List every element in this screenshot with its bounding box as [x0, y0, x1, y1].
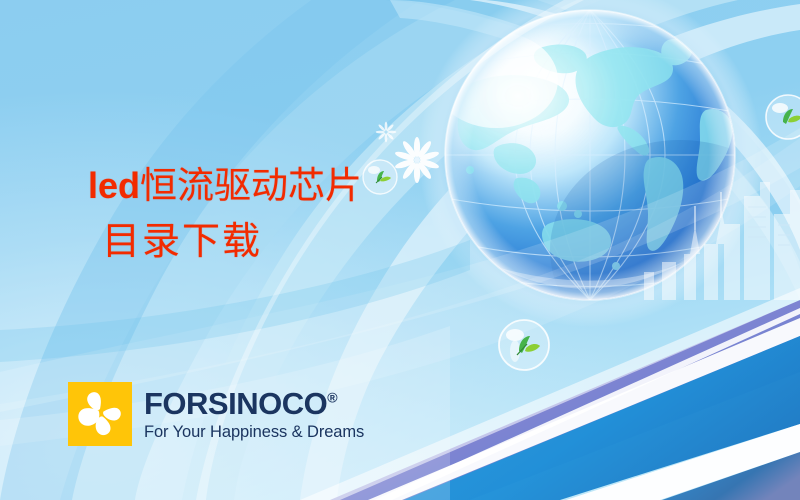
eco-bubble-medium — [499, 320, 549, 370]
headline-line-1-latin: led — [88, 165, 140, 206]
logo-wordmark: FORSINOCO® — [144, 388, 364, 419]
headline-line-2: 目录下载 — [102, 223, 362, 261]
forsinoco-pinwheel-mark-icon — [68, 382, 132, 446]
headline-line-1: led恒流驱动芯片 — [88, 168, 362, 205]
promo-headline: led恒流驱动芯片 目录下载 — [88, 168, 362, 261]
forsinoco-logo: FORSINOCO® For Your Happiness & Dreams — [68, 382, 364, 446]
registered-trademark-icon: ® — [327, 390, 337, 406]
promo-banner: led恒流驱动芯片 目录下载 FORSINOCO® For Your Happi… — [0, 0, 800, 500]
logo-text-block: FORSINOCO® For Your Happiness & Dreams — [144, 382, 364, 441]
headline-line-1-cjk: 恒流驱动芯片 — [140, 166, 362, 207]
logo-wordmark-text: FORSINOCO — [144, 386, 327, 421]
logo-tagline: For Your Happiness & Dreams — [144, 424, 364, 441]
